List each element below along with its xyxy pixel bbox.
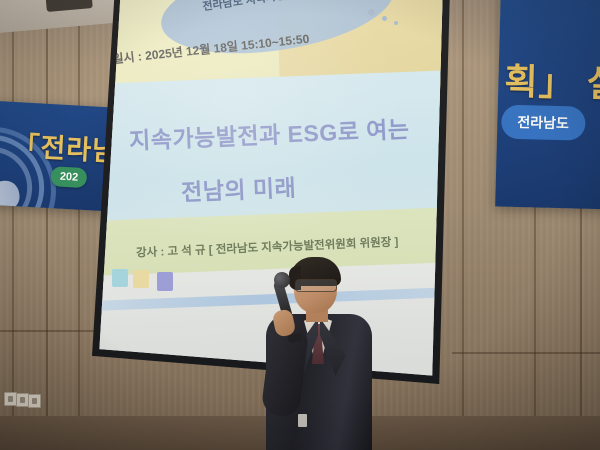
presenter-glasses (295, 279, 337, 292)
banner-right-title: 획」 실 (504, 53, 600, 108)
wall-seam (452, 352, 600, 354)
slide-dot (368, 9, 375, 16)
wall-seam (46, 10, 48, 420)
banner-right: 획」 실 전라남도 (495, 0, 600, 210)
wall-seam (580, 196, 582, 426)
wall-seam (12, 18, 14, 418)
banner-left-badge: 202 (50, 166, 87, 188)
banner-right-pill: 전라남도 (501, 105, 585, 141)
screenshot-root: 「전라남도 202 획」 실 전라남도 전라남도 지속가능발전 일시 : 202… (0, 0, 600, 450)
wall-outlet[interactable] (28, 394, 41, 408)
wall-seam (0, 330, 100, 332)
slide-block-yellow (133, 270, 149, 288)
wall-seam (78, 6, 80, 421)
slide-title-line-2: 전남의 미래 (180, 168, 297, 207)
banner-left: 「전라남도 202 (0, 101, 115, 212)
presenter-badge (298, 414, 307, 427)
presenter (248, 262, 398, 450)
banner-left-title: 「전라남도 (12, 124, 115, 170)
slide-block-violet (157, 272, 173, 291)
wall-seam (534, 196, 536, 426)
slide-block-cyan (112, 269, 128, 287)
wall-seam (462, 0, 464, 430)
